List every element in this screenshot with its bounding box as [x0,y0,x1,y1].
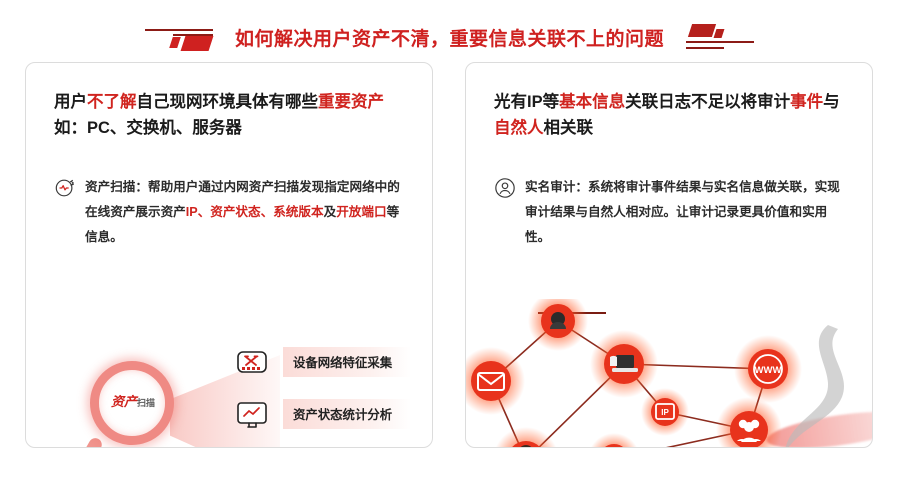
header: 如何解决用户资产不清，重要信息关联不上的问题 [0,16,899,58]
heading-part-highlight: 重要资产 [318,93,384,111]
heading-part: 用户 [54,93,87,111]
poster-canvas: 如何解决用户资产不清，重要信息关联不上的问题 用户不了解自己现网环境具体有哪些重… [0,0,899,488]
bullet-real-name-audit: 实名审计：系统将审计事件结果与实名信息做关联，实现审计结果与自然人相对应。让审计… [494,175,850,250]
heading-part: 自己现网环境具体有哪些 [137,93,319,111]
heading-part-highlight: 基本信息 [559,93,625,111]
feature-pill: 资产状态统计分析 [283,399,411,429]
network-switch-icon [231,344,273,384]
magnifier-handle [70,436,104,448]
node-ip-badge[interactable]: IP [651,398,679,426]
magnifier-label-primary: 资产 [111,394,137,409]
feature-label: 设备网络特征采集 [293,353,392,371]
card-asset-scan: 用户不了解自己现网环境具体有哪些重要资产如：PC、交换机、服务器 资产扫描：帮助… [25,62,433,448]
bullet-asset-scan: 资产扫描：帮助用户通过内网资产扫描发现指定网络中的在线资产展示资产IP、资产状态… [54,175,410,250]
magnifier-label-secondary: 扫描 [137,398,155,408]
left-decoration [145,20,217,54]
monitor-chart-icon [231,396,273,436]
page-title: 如何解决用户资产不清，重要信息关联不上的问题 [235,24,664,51]
feature-label: 资产状态统计分析 [293,405,392,423]
magnifier-graphic: 资产扫描 [74,355,234,448]
heading-part: 关联日志不足以将审计 [625,93,790,111]
bullet-text: 资产扫描：帮助用户通过内网资产扫描发现指定网络中的在线资产展示资产IP、资产状态… [85,175,410,250]
heading-part-highlight: 自然人 [494,119,544,137]
card-heading: 光有IP等基本信息关联日志不足以将审计事件与自然人相关联 [494,89,846,141]
bullet-part-highlight: IP、资产状态、系统版本 [186,205,324,219]
node-hacker[interactable] [541,304,575,338]
card-real-name-audit: 光有IP等基本信息关联日志不足以将审计事件与自然人相关联 实名审计：系统将审计事… [465,62,873,448]
feature-item: 设备网络特征采集 [231,341,411,387]
scan-pulse-icon [54,177,76,199]
s-curve-watermark [758,315,873,448]
heading-part-highlight: 事件 [790,93,823,111]
node-envelope[interactable] [471,361,511,401]
heading-part: 如：PC、交换机、服务器 [54,119,242,137]
bullet-part-highlight: 开放端口 [336,205,386,219]
card-heading: 用户不了解自己现网环境具体有哪些重要资产如：PC、交换机、服务器 [54,89,406,141]
node-laptop[interactable] [604,344,644,384]
bullet-text: 实名审计：系统将审计事件结果与实名信息做关联，实现审计结果与自然人相对应。让审计… [525,175,850,250]
feature-pill: 设备网络特征采集 [283,347,411,377]
feature-item: 资产状态统计分析 [231,393,411,439]
bullet-part: 及 [324,205,337,219]
heading-part: 与 [823,93,840,111]
magnifier-label: 资产扫描 [98,391,168,411]
right-decoration [682,20,754,54]
user-circle-icon [494,177,516,199]
heading-part: 相关联 [544,119,594,137]
svg-text:IP: IP [661,408,669,417]
heading-part: 光有IP等 [494,93,559,111]
heading-part-highlight: 不了解 [87,93,137,111]
